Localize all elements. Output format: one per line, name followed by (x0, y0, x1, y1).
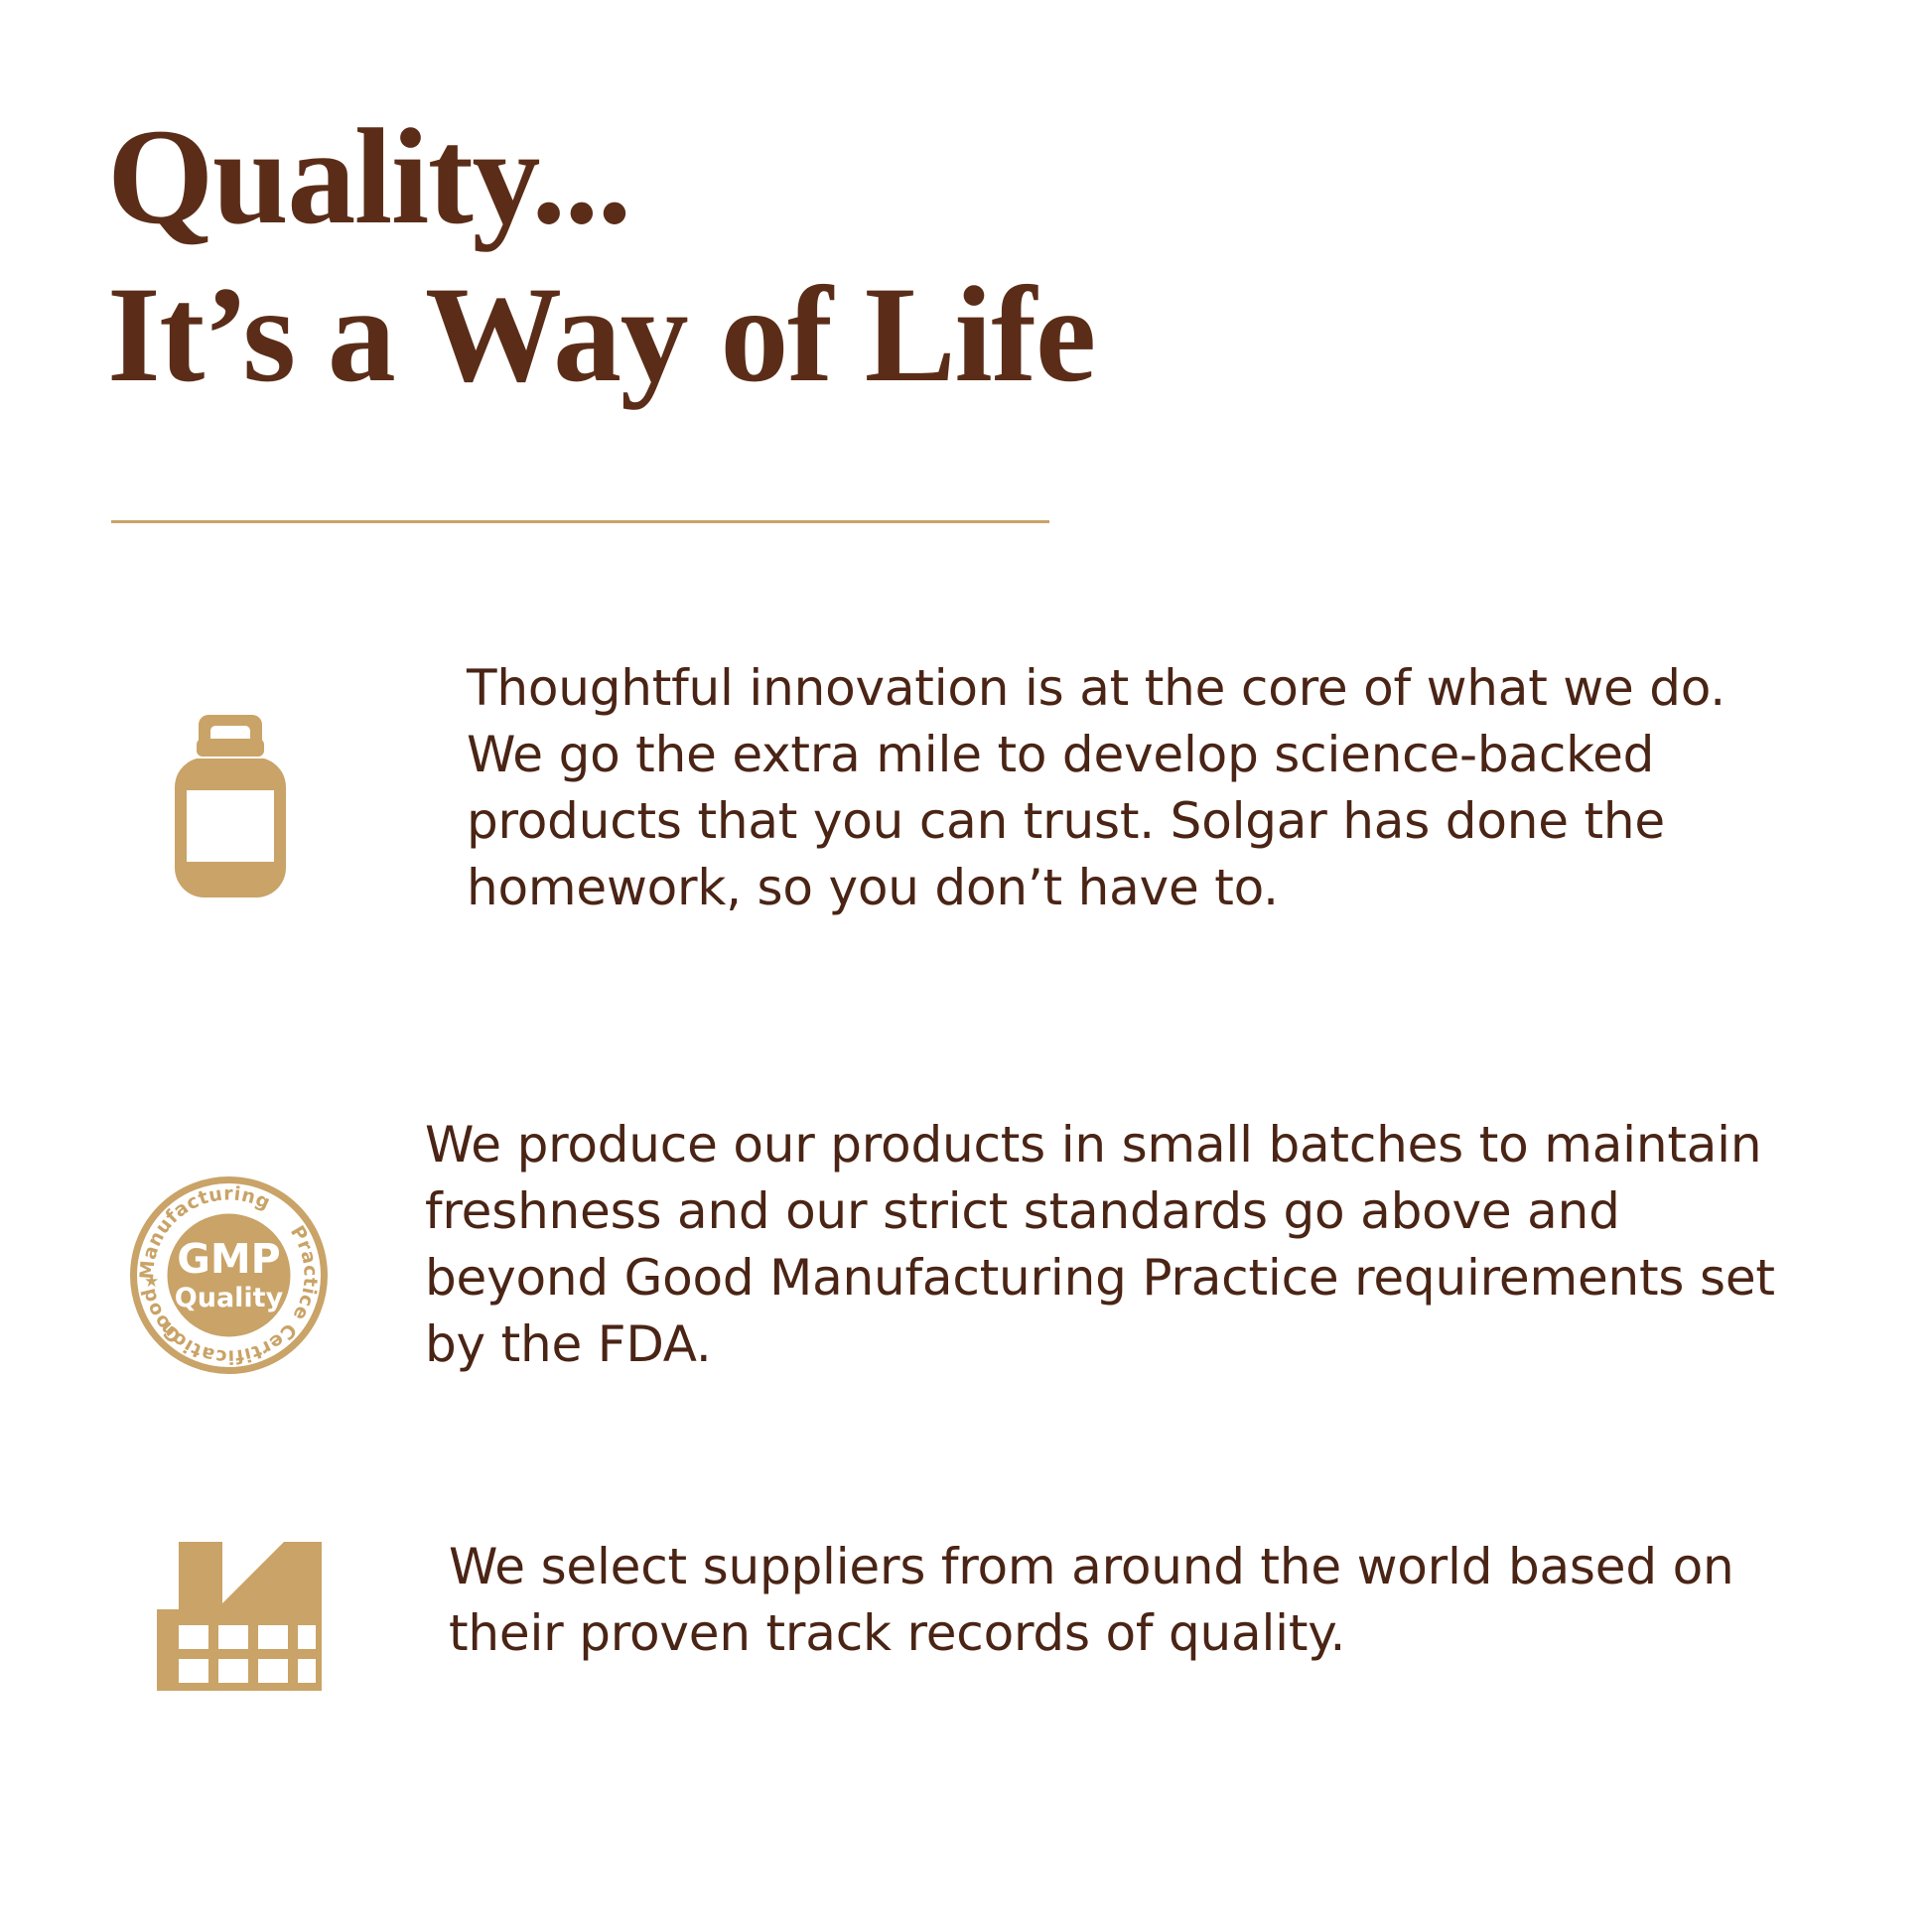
supplement-bottle-icon (169, 713, 292, 902)
title-divider-rule (111, 520, 1049, 523)
factory-icon (151, 1542, 322, 1698)
gmp-seal-inner-label-1: GMP (127, 1377, 128, 1378)
feature-paragraph: We select suppliers from around the worl… (449, 1534, 1799, 1667)
poster-canvas: Quality... It’s a Way of Life (0, 0, 1932, 1932)
gmp-quality-seal-icon: Good Manufacturing Practice Certificatio… (127, 1173, 331, 1377)
feature-icon-slot: Good Manufacturing Practice Certificatio… (119, 1112, 425, 1377)
gmp-seal-inner-label-2: Quality (127, 1377, 128, 1378)
list-item: We select suppliers from around the worl… (119, 1534, 1827, 1698)
page-title: Quality... It’s a Way of Life (107, 107, 1398, 405)
feature-paragraph: Thoughtful innovation is at the core of … (467, 655, 1817, 921)
page-title-line-2: It’s a Way of Life (107, 265, 1398, 405)
feature-icon-slot (119, 1534, 449, 1698)
list-item: Good Manufacturing Practice Certificatio… (119, 1112, 1827, 1378)
feature-text-slot: We produce our products in small batches… (425, 1112, 1827, 1378)
page-title-line-1: Quality... (107, 107, 1398, 247)
feature-paragraph: We produce our products in small batches… (425, 1112, 1775, 1378)
svg-text:GMP: GMP (177, 1235, 281, 1283)
list-item: Thoughtful innovation is at the core of … (119, 655, 1827, 921)
feature-text-slot: Thoughtful innovation is at the core of … (467, 655, 1827, 921)
svg-text:Quality: Quality (175, 1283, 284, 1313)
gmp-seal-outer-label: Good Manufacturing Practice Certificatio… (127, 1377, 128, 1378)
feature-icon-slot (119, 655, 467, 902)
svg-text:★: ★ (144, 1272, 159, 1292)
feature-text-slot: We select suppliers from around the worl… (449, 1534, 1827, 1667)
